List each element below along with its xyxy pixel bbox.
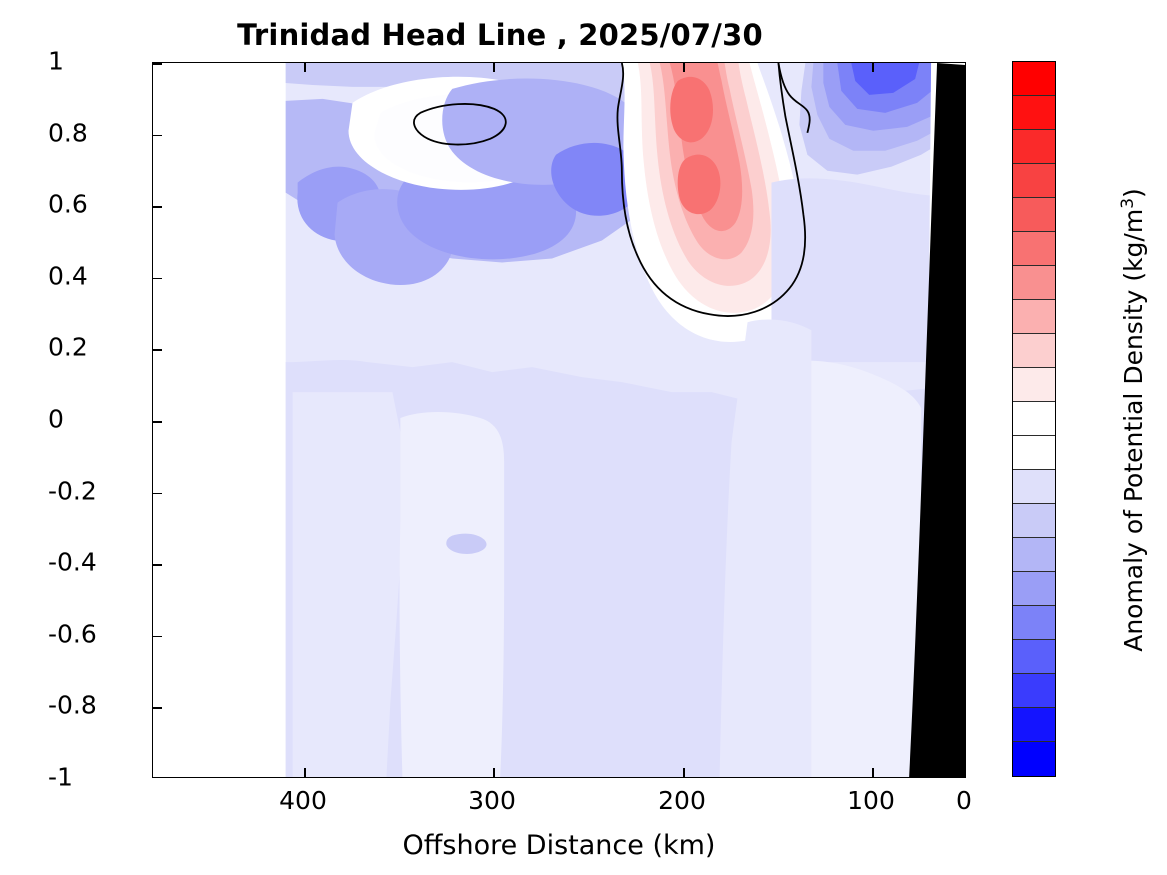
plot-area [152, 62, 966, 778]
colorbar-tick-0.2: 0.2 [48, 333, 88, 362]
y-tick-300 [153, 493, 162, 495]
colorbar-segment-19 [1013, 708, 1055, 742]
colorbar [1012, 61, 1056, 777]
y-tick-right-450 [956, 707, 965, 709]
colorbar-segment-10 [1013, 402, 1055, 436]
colorbar-segment-11 [1013, 436, 1055, 470]
x-tick-200 [683, 768, 685, 777]
x-tick-label-100: 100 [847, 786, 895, 815]
colorbar-title-close: ) [1119, 188, 1148, 198]
colorbar-segment-12 [1013, 470, 1055, 504]
colorbar-tick-1: 1 [48, 47, 64, 76]
colorbar-title-main: Anomaly of Potential Density (kg/m [1119, 209, 1148, 652]
x-tick-label-400: 400 [279, 786, 327, 815]
y-tick-250 [153, 421, 162, 423]
x-tick-label-300: 300 [468, 786, 516, 815]
colorbar-tick-0.8: 0.8 [48, 118, 88, 147]
y-tick-350 [153, 564, 162, 566]
y-tick-right-300 [956, 493, 965, 495]
colorbar-segment-5 [1013, 232, 1055, 266]
colorbar-tick--1: -1 [48, 763, 73, 792]
x-tick-top-400 [304, 63, 306, 72]
colorbar-tick--0.8: -0.8 [48, 691, 97, 720]
colorbar-segment-6 [1013, 266, 1055, 300]
colorbar-segment-1 [1013, 96, 1055, 130]
y-tick-50 [153, 135, 162, 137]
colorbar-segment-2 [1013, 130, 1055, 164]
colorbar-tick-0: 0 [48, 405, 64, 434]
colorbar-segment-15 [1013, 572, 1055, 606]
y-tick-450 [153, 707, 162, 709]
y-tick-right-150 [956, 278, 965, 280]
x-tick-label-0: 0 [956, 786, 972, 815]
y-tick-100 [153, 206, 162, 208]
x-tick-top-300 [493, 63, 495, 72]
colorbar-segment-9 [1013, 368, 1055, 402]
colorbar-tick--0.6: -0.6 [48, 619, 97, 648]
y-tick-0 [153, 63, 162, 65]
colorbar-tick-0.6: 0.6 [48, 190, 88, 219]
colorbar-segment-17 [1013, 640, 1055, 674]
x-tick-300 [493, 768, 495, 777]
colorbar-segment-4 [1013, 198, 1055, 232]
x-tick-label-200: 200 [658, 786, 706, 815]
y-tick-right-350 [956, 564, 965, 566]
x-axis-title: Offshore Distance (km) [403, 830, 716, 861]
contour-field [153, 63, 965, 777]
colorbar-segment-0 [1013, 62, 1055, 96]
x-tick-0 [965, 768, 966, 777]
y-tick-150 [153, 278, 162, 280]
colorbar-segment-13 [1013, 504, 1055, 538]
colorbar-segment-16 [1013, 606, 1055, 640]
colorbar-tick--0.4: -0.4 [48, 548, 97, 577]
colorbar-tick--0.2: -0.2 [48, 476, 97, 505]
y-tick-right-200 [956, 349, 965, 351]
colorbar-title: Anomaly of Potential Density (kg/m3) [1118, 188, 1148, 652]
y-tick-right-50 [956, 135, 965, 137]
colorbar-segment-18 [1013, 674, 1055, 708]
y-tick-400 [153, 636, 162, 638]
colorbar-segment-7 [1013, 300, 1055, 334]
figure-root: Trinidad Head Line , 2025/07/30 [0, 0, 1167, 875]
colorbar-segment-3 [1013, 164, 1055, 198]
colorbar-tick-0.4: 0.4 [48, 261, 88, 290]
x-tick-top-200 [683, 63, 685, 72]
x-tick-100 [872, 768, 874, 777]
chart-title: Trinidad Head Line , 2025/07/30 [0, 18, 1000, 52]
y-tick-right-100 [956, 206, 965, 208]
colorbar-segment-8 [1013, 334, 1055, 368]
y-tick-right-250 [956, 421, 965, 423]
colorbar-segment-14 [1013, 538, 1055, 572]
colorbar-segment-20 [1013, 742, 1055, 776]
y-tick-200 [153, 349, 162, 351]
colorbar-title-exponent: 3 [1118, 198, 1138, 209]
x-tick-400 [304, 768, 306, 777]
y-tick-right-400 [956, 636, 965, 638]
x-tick-top-100 [872, 63, 874, 72]
